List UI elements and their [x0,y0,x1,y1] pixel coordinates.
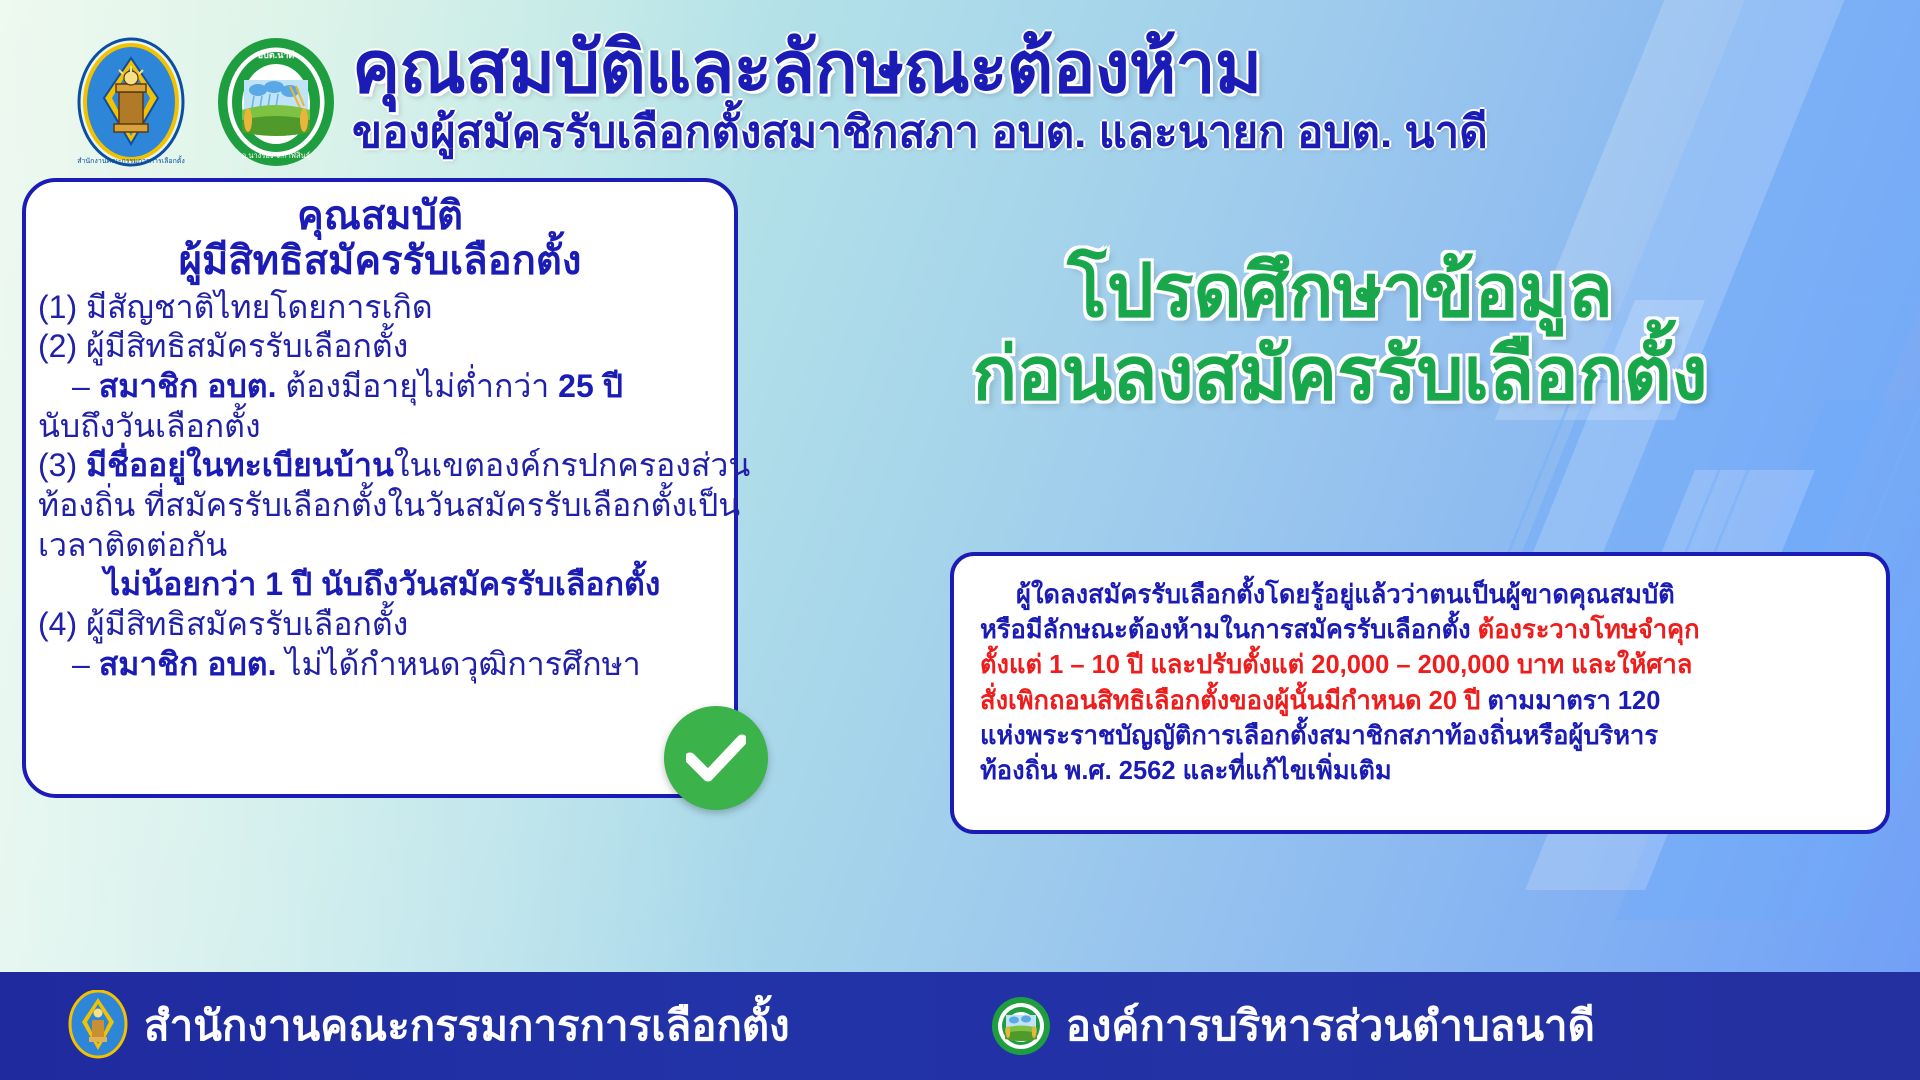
qualifications-title-line-2: ผู้มีสิทธิสมัครรับเลือกตั้ง [26,239,734,284]
abt-nadi-emblem-icon: อบต.นาดี อ.นางรอง จ.กาฬสินธุ์ [212,36,340,168]
dash-marker: – [72,368,90,404]
subitem-bold-role: สมาชิก อบต. [99,368,277,404]
item-number: (1) [38,289,77,325]
list-item: (3) มีชื่ออยู่ในทะเบียนบ้านในเขตองค์กรปก… [38,446,724,486]
qualifications-list: (1) มีสัญชาติไทยโดยการเกิด (2) ผู้มีสิทธ… [26,284,734,685]
qualifications-card-title: คุณสมบัติ ผู้มีสิทธิสมัครรับเลือกตั้ง [26,182,734,284]
item-text: ผู้มีสิทธิสมัครรับเลือกตั้ง [86,328,408,364]
headline-line-2: ก่อนลงสมัครรับเลือกตั้ง [770,333,1910,416]
warning-line-6: ท้องถิ่น พ.ศ. 2562 และที่แก้ไขเพิ่มเติม [980,754,1860,789]
warning-line-2-red: ต้องระวางโทษจำคุก [1478,616,1700,644]
ect-emblem-icon: สำนักงานคณะกรรมการการเลือกตั้ง [72,36,190,168]
item-number: (4) [38,606,77,642]
footer-org-ect: สำนักงานคณะกรรมการการเลือกตั้ง [66,990,790,1062]
penalty-warning-card: ผู้ใดลงสมัครรับเลือกตั้งโดยรู้อยู่แล้วว่… [950,552,1890,834]
list-item-line-2: ท้องถิ่น ที่สมัครรับเลือกตั้งในวันสมัครร… [38,486,724,526]
qualifications-card: คุณสมบัติ ผู้มีสิทธิสมัครรับเลือกตั้ง (1… [22,178,738,798]
footer-abt-emblem-icon [990,995,1052,1057]
poster-canvas: สำนักงานคณะกรรมการการเลือกตั้ง [0,0,1920,1080]
list-subitem-continued: นับถึงวันเลือกตั้ง [38,407,724,447]
warning-line-5: แห่งพระราชบัญญัติการเลือกตั้งสมาชิกสภาท้… [980,719,1860,754]
item-number: (2) [38,328,77,364]
list-item: (4) ผู้มีสิทธิสมัครรับเลือกตั้ง [38,605,724,645]
page-subtitle: ของผู้สมัครรับเลือกตั้งสมาชิกสภา อบต. แล… [352,110,1892,156]
headline-line-1: โปรดศึกษาข้อมูล [770,250,1910,333]
list-subitem: – สมาชิก อบต. ไม่ได้กำหนดวุฒิการศึกษา [38,645,724,685]
warning-line-2: หรือมีลักษณะต้องห้ามในการสมัครรับเลือกตั… [980,613,1860,648]
warning-line-4-normal: ตามมาตรา 120 [1487,687,1660,715]
footer-abt-label: องค์การบริหารส่วนตำบลนาดี [1066,993,1595,1059]
headline-block: โปรดศึกษาข้อมูล ก่อนลงสมัครรับเลือกตั้ง [770,250,1910,416]
item-bold-phrase: มีชื่ออยู่ในทะเบียนบ้าน [86,447,394,483]
qualifications-title-line-1: คุณสมบัติ [26,194,734,239]
check-mark-glyph [686,734,746,782]
list-item: (2) ผู้มีสิทธิสมัครรับเลือกตั้ง [38,327,724,367]
list-item: (1) มีสัญชาติไทยโดยการเกิด [38,288,724,328]
footer-ect-emblem-icon [66,990,130,1062]
item-number: (3) [38,447,77,483]
list-item-bold-note: ไม่น้อยกว่า 1 ปี นับถึงวันสมัครรับเลือกต… [38,565,724,605]
dash-marker: – [72,646,90,682]
footer-bar: สำนักงานคณะกรรมการการเลือกตั้ง องค์การบร… [0,972,1920,1080]
item-text: ผู้มีสิทธิสมัครรับเลือกตั้ง [86,606,408,642]
warning-line-3: ตั้งแต่ 1 – 10 ปี และปรับตั้งแต่ 20,000 … [980,648,1860,683]
subitem-bold-role: สมาชิก อบต. [99,646,277,682]
subitem-bold-age: 25 ปี [558,368,623,404]
footer-ect-label: สำนักงานคณะกรรมการการเลือกตั้ง [144,993,790,1059]
subitem-mid-text: ต้องมีอายุไม่ต่ำกว่า [285,368,549,404]
svg-text:อบต.นาดี: อบต.นาดี [258,50,295,60]
header-title-block: คุณสมบัติและลักษณะต้องห้าม ของผู้สมัครรั… [352,32,1892,156]
svg-text:อ.นางรอง จ.กาฬสินธุ์: อ.นางรอง จ.กาฬสินธุ์ [242,151,311,160]
footer-org-abt: องค์การบริหารส่วนตำบลนาดี [990,993,1595,1059]
subitem-text: ไม่ได้กำหนดวุฒิการศึกษา [285,646,640,682]
warning-line-1: ผู้ใดลงสมัครรับเลือกตั้งโดยรู้อยู่แล้วว่… [980,578,1860,613]
warning-line-2-normal: หรือมีลักษณะต้องห้ามในการสมัครรับเลือกตั… [980,616,1478,644]
item-text: ในเขตองค์กรปกครองส่วน [394,447,750,483]
warning-line-4-red: สั่งเพิกถอนสิทธิเลือกตั้งของผู้นั้นมีกำห… [980,687,1487,715]
header: สำนักงานคณะกรรมการการเลือกตั้ง [0,0,1920,190]
list-item-line-3: เวลาติดต่อกัน [38,526,724,566]
warning-line-4: สั่งเพิกถอนสิทธิเลือกตั้งของผู้นั้นมีกำห… [980,684,1860,719]
check-circle-icon [664,706,768,810]
item-text: มีสัญชาติไทยโดยการเกิด [86,289,433,325]
list-subitem: – สมาชิก อบต. ต้องมีอายุไม่ต่ำกว่า 25 ปี [38,367,724,407]
page-title: คุณสมบัติและลักษณะต้องห้าม [352,32,1892,104]
